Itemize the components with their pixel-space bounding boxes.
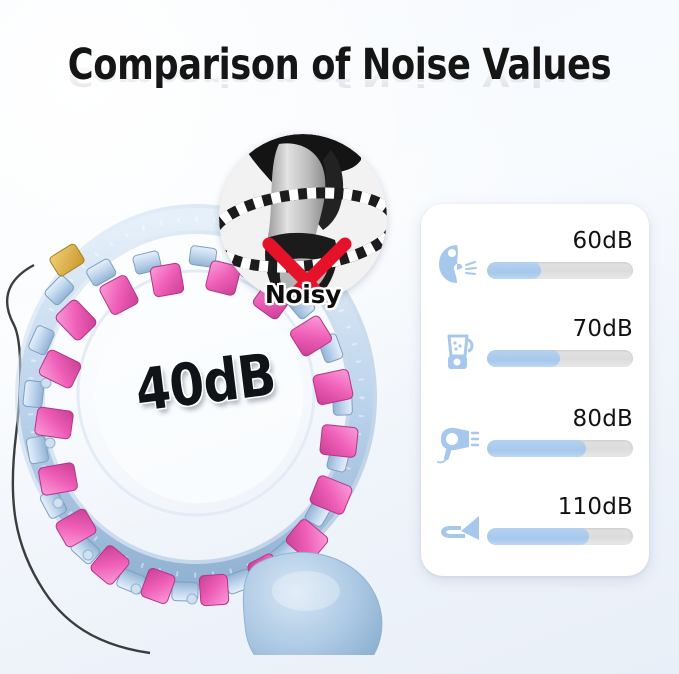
page-title-reflection: Comparison of Noise Values bbox=[61, 62, 618, 89]
poster-canvas: Comparison of Noise Values Comparison of… bbox=[0, 0, 679, 674]
hair-dryer-icon bbox=[435, 418, 483, 466]
noise-row: 60dB bbox=[421, 226, 649, 302]
noisy-photo bbox=[219, 134, 387, 302]
noise-row: 110dB bbox=[421, 492, 649, 568]
noise-level-track bbox=[487, 262, 633, 279]
noise-value-label: 70dB bbox=[573, 316, 633, 342]
page-title: Comparison of Noise Values Comparison of… bbox=[0, 44, 679, 132]
horn-icon bbox=[435, 506, 483, 554]
noise-level-fill bbox=[487, 528, 589, 545]
noise-row: 80dB bbox=[421, 404, 649, 480]
noisy-inset: Noisy bbox=[219, 134, 387, 302]
noise-value-label: 80dB bbox=[573, 406, 633, 432]
noise-level-track bbox=[487, 528, 633, 545]
noise-level-fill bbox=[487, 350, 560, 367]
red-cross-out-icon bbox=[219, 134, 387, 302]
noise-value-label: 110dB bbox=[558, 494, 633, 520]
noise-value-label: 60dB bbox=[573, 228, 633, 254]
noisy-label: Noisy bbox=[219, 280, 387, 309]
blender-icon bbox=[435, 328, 483, 376]
talking-face-icon bbox=[435, 240, 483, 288]
noise-level-track bbox=[487, 440, 633, 457]
noise-level-fill bbox=[487, 440, 586, 457]
noise-level-fill bbox=[487, 262, 541, 279]
noise-comparison-panel: 60dB bbox=[421, 204, 649, 576]
noise-level-track bbox=[487, 350, 633, 367]
noise-row: 70dB bbox=[421, 314, 649, 390]
